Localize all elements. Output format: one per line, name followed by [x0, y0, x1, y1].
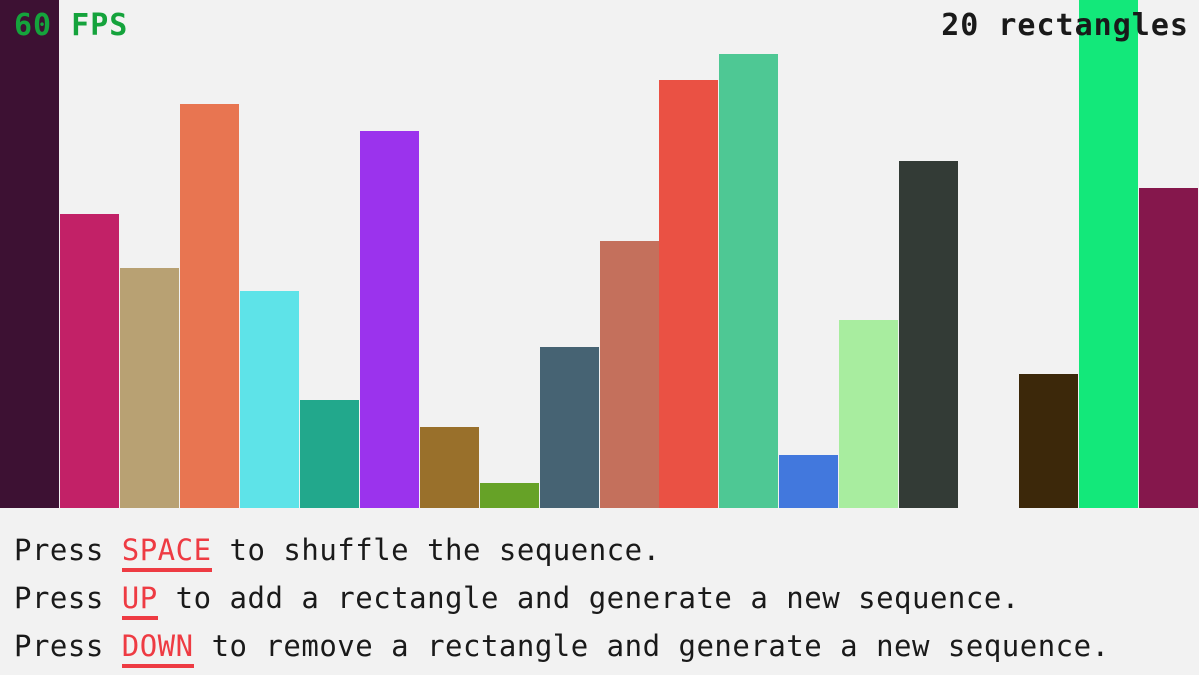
- rectangle-sequence-app: 60 FPS 20 rectangles Press SPACE to shuf…: [0, 0, 1199, 675]
- instruction-suffix: to shuffle the sequence.: [212, 533, 661, 567]
- bar-9: [480, 483, 539, 508]
- instruction-suffix: to add a rectangle and generate a new se…: [158, 581, 1020, 615]
- instruction-suffix: to remove a rectangle and generate a new…: [194, 629, 1110, 663]
- bar-chart: [0, 0, 1199, 508]
- bar-2: [60, 214, 119, 508]
- bar-12: [659, 80, 718, 508]
- bar-8: [420, 427, 479, 508]
- bar-20: [1139, 188, 1198, 508]
- bar-14: [779, 455, 838, 508]
- bar-16: [899, 161, 958, 508]
- instruction-line-1: Press SPACE to shuffle the sequence.: [14, 526, 1199, 574]
- instruction-prefix: Press: [14, 533, 122, 567]
- instruction-prefix: Press: [14, 581, 122, 615]
- bar-1: [0, 0, 59, 508]
- bar-5: [240, 291, 299, 508]
- bar-7: [360, 131, 419, 508]
- bar-15: [839, 320, 898, 508]
- fps-counter: 60 FPS: [14, 8, 128, 43]
- key-hint-down[interactable]: DOWN: [122, 629, 194, 668]
- key-hint-space[interactable]: SPACE: [122, 533, 212, 572]
- instructions-panel: Press SPACE to shuffle the sequence.Pres…: [0, 508, 1199, 675]
- bar-3: [120, 268, 179, 508]
- key-hint-up[interactable]: UP: [122, 581, 158, 620]
- bar-19: [1079, 0, 1138, 508]
- bar-13: [719, 54, 778, 508]
- bar-4: [180, 104, 239, 508]
- bar-10: [540, 347, 599, 508]
- bar-6: [300, 400, 359, 508]
- bar-11: [600, 241, 659, 508]
- instruction-line-3: Press DOWN to remove a rectangle and gen…: [14, 622, 1199, 670]
- instruction-prefix: Press: [14, 629, 122, 663]
- rectangle-count-label: 20 rectangles: [941, 8, 1189, 43]
- bar-18: [1019, 374, 1078, 508]
- instruction-line-2: Press UP to add a rectangle and generate…: [14, 574, 1199, 622]
